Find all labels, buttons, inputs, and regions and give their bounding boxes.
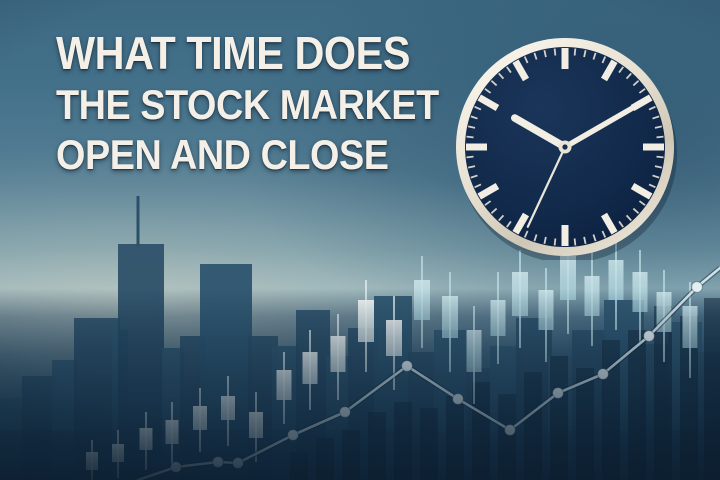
trendline-node: [288, 430, 299, 441]
candle-body: [249, 412, 263, 438]
trendline-node: [453, 394, 464, 405]
candle-body: [633, 272, 648, 312]
volume-bar: [550, 356, 568, 480]
candle-body: [683, 306, 698, 348]
candle-body: [86, 452, 98, 470]
candle-body: [512, 272, 528, 316]
candle-body: [560, 256, 576, 300]
candle-body: [491, 300, 506, 336]
headline-line-2: THE STOCK MARKET: [56, 84, 443, 126]
clock-center-pin: [562, 144, 567, 149]
trendline-node: [553, 388, 564, 399]
trendline-node: [402, 361, 413, 372]
trendline-node: [171, 462, 182, 473]
trendline-node: [598, 369, 609, 380]
clock-minute-tick: [575, 49, 576, 56]
trendline-node: [644, 331, 655, 342]
candle-body: [358, 300, 374, 342]
candle-body: [539, 290, 554, 330]
clock-minute-tick: [555, 238, 556, 245]
clock-minute-tick: [656, 157, 663, 158]
trendline-node: [340, 407, 351, 418]
candle-body: [221, 396, 235, 420]
trendline-node: [213, 457, 224, 468]
candle-body: [166, 420, 179, 444]
volume-bar: [394, 402, 412, 480]
volume-bar: [368, 412, 386, 480]
volume-bar: [446, 396, 464, 480]
trendline-node: [505, 425, 516, 436]
clock-minute-tick: [555, 49, 556, 56]
volume-bar: [342, 430, 360, 480]
page-title: WHAT TIME DOES THE STOCK MARKET OPEN AND…: [56, 30, 486, 176]
volume-bar: [290, 452, 308, 480]
candle-body: [609, 260, 624, 300]
volume-bar: [420, 408, 438, 480]
candle-body: [140, 428, 153, 450]
candle-body: [386, 320, 402, 356]
clock-minute-tick: [656, 137, 663, 138]
candle-body: [414, 280, 430, 320]
clock-minute-tick: [575, 238, 576, 245]
candle-body: [585, 276, 600, 316]
candle-body: [303, 352, 318, 384]
trendline-node: [692, 282, 703, 293]
volume-bar: [524, 372, 542, 480]
volume-bar: [704, 298, 720, 480]
candle-body: [112, 444, 124, 462]
candle-body: [277, 370, 292, 400]
skyline-spire: [137, 196, 140, 246]
poster-canvas: WHAT TIME DOES THE STOCK MARKET OPEN AND…: [0, 0, 720, 480]
candle-body: [331, 336, 346, 372]
candle-body: [467, 330, 482, 372]
candle-body: [193, 406, 207, 430]
candle-body: [442, 296, 458, 338]
volume-bar: [498, 394, 516, 480]
headline-line-3: OPEN AND CLOSE: [56, 134, 443, 176]
volume-bar: [316, 438, 334, 480]
trendline-node: [233, 458, 244, 469]
headline-line-1: WHAT TIME DOES: [56, 30, 443, 76]
